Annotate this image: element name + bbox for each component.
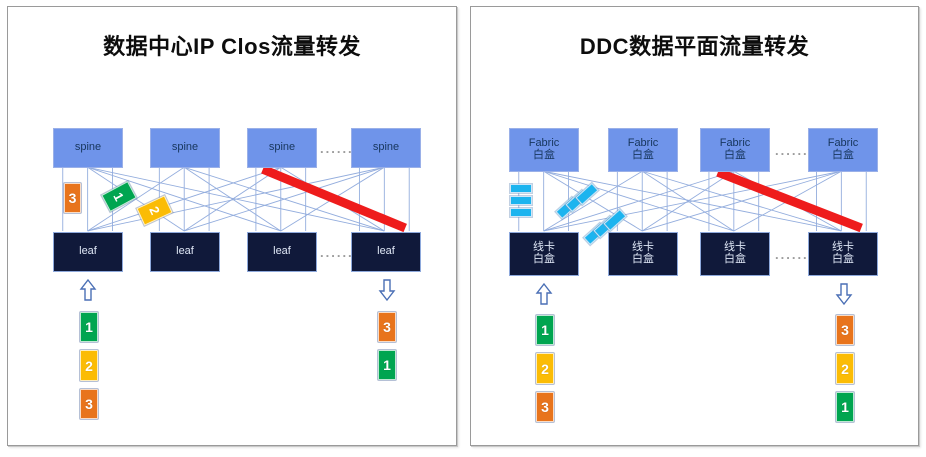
arrow-up-icon-left bbox=[79, 279, 97, 301]
cell-stack-item-2 bbox=[510, 196, 532, 205]
node-label-line2: 白盒 bbox=[724, 254, 746, 266]
arrow-up-icon-right bbox=[535, 283, 553, 305]
node-linecard-2[interactable]: 线卡 白盒 bbox=[608, 232, 678, 276]
ingress-packet-3: 3 bbox=[80, 389, 98, 419]
node-label-line2: 白盒 bbox=[832, 254, 854, 266]
packet-value: 3 bbox=[841, 322, 849, 338]
node-label-line2: 白盒 bbox=[832, 150, 854, 162]
packet-value: 3 bbox=[69, 190, 77, 206]
egress-packet-3-right: 3 bbox=[836, 315, 854, 345]
diagram-canvas: 数据中心IP Clos流量转发 bbox=[0, 0, 926, 457]
node-label: spine bbox=[75, 142, 101, 154]
leaf-row-ellipsis: ...... bbox=[320, 245, 354, 260]
packet-value: 1 bbox=[541, 322, 549, 338]
packet-value: 2 bbox=[541, 361, 549, 377]
packet-value: 2 bbox=[85, 358, 93, 374]
spine-row-ellipsis: ...... bbox=[320, 141, 354, 156]
node-spine-1[interactable]: spine bbox=[53, 128, 123, 168]
node-leaf-1[interactable]: leaf bbox=[53, 232, 123, 272]
packet-value: 3 bbox=[85, 396, 93, 412]
left-canvas: spine spine spine spine ...... leaf leaf… bbox=[8, 7, 456, 445]
panel-ip-clos: 数据中心IP Clos流量转发 bbox=[7, 6, 457, 446]
node-label: spine bbox=[373, 142, 399, 154]
linecard-row-ellipsis: ...... bbox=[775, 247, 809, 262]
node-label-line2: 白盒 bbox=[632, 150, 654, 162]
fabric-row-ellipsis: ...... bbox=[775, 143, 809, 158]
node-label: spine bbox=[269, 142, 295, 154]
packet-value: 1 bbox=[841, 399, 849, 415]
cell-stack-item-3 bbox=[510, 208, 532, 217]
arrow-down-icon-left bbox=[378, 279, 396, 301]
node-label: leaf bbox=[79, 246, 97, 258]
packet-value: 1 bbox=[383, 357, 391, 373]
node-spine-3[interactable]: spine bbox=[247, 128, 317, 168]
node-label: leaf bbox=[377, 246, 395, 258]
node-linecard-3[interactable]: 线卡 白盒 bbox=[700, 232, 770, 276]
egress-packet-3: 3 bbox=[378, 312, 396, 342]
node-label: spine bbox=[172, 142, 198, 154]
packet-value: 1 bbox=[85, 319, 93, 335]
packet-value: 3 bbox=[383, 319, 391, 335]
node-linecard-1[interactable]: 线卡 白盒 bbox=[509, 232, 579, 276]
node-leaf-3[interactable]: leaf bbox=[247, 232, 317, 272]
node-spine-2[interactable]: spine bbox=[150, 128, 220, 168]
node-fabric-2[interactable]: Fabric 白盒 bbox=[608, 128, 678, 172]
cell-stack-item-1 bbox=[510, 184, 532, 193]
node-linecard-4[interactable]: 线卡 白盒 bbox=[808, 232, 878, 276]
node-fabric-1[interactable]: Fabric 白盒 bbox=[509, 128, 579, 172]
node-fabric-3[interactable]: Fabric 白盒 bbox=[700, 128, 770, 172]
ingress-packet-1-right: 1 bbox=[536, 315, 554, 345]
node-label: leaf bbox=[176, 246, 194, 258]
egress-packet-1-right: 1 bbox=[836, 392, 854, 422]
ingress-packet-2: 2 bbox=[80, 350, 98, 381]
node-spine-4[interactable]: spine bbox=[351, 128, 421, 168]
node-label-line2: 白盒 bbox=[724, 150, 746, 162]
node-leaf-4[interactable]: leaf bbox=[351, 232, 421, 272]
packet-value: 2 bbox=[146, 204, 163, 217]
node-label-line2: 白盒 bbox=[533, 150, 555, 162]
packet-value: 3 bbox=[541, 399, 549, 415]
node-label-line2: 白盒 bbox=[632, 254, 654, 266]
node-leaf-2[interactable]: leaf bbox=[150, 232, 220, 272]
ingress-packet-3-right: 3 bbox=[536, 392, 554, 422]
egress-packet-1: 1 bbox=[378, 350, 396, 380]
right-canvas: Fabric 白盒 Fabric 白盒 Fabric 白盒 Fabric 白盒 … bbox=[471, 7, 918, 445]
panel-ddc: DDC数据平面流量转发 bbox=[470, 6, 919, 446]
packet-value: 1 bbox=[111, 190, 128, 203]
arrow-down-icon-right bbox=[835, 283, 853, 305]
ingress-packet-2-right: 2 bbox=[536, 353, 554, 384]
egress-packet-2-right: 2 bbox=[836, 353, 854, 384]
inflight-packet-3: 3 bbox=[64, 183, 81, 213]
node-label-line2: 白盒 bbox=[533, 254, 555, 266]
ingress-packet-1: 1 bbox=[80, 312, 98, 342]
node-label: leaf bbox=[273, 246, 291, 258]
node-fabric-4[interactable]: Fabric 白盒 bbox=[808, 128, 878, 172]
packet-value: 2 bbox=[841, 361, 849, 377]
